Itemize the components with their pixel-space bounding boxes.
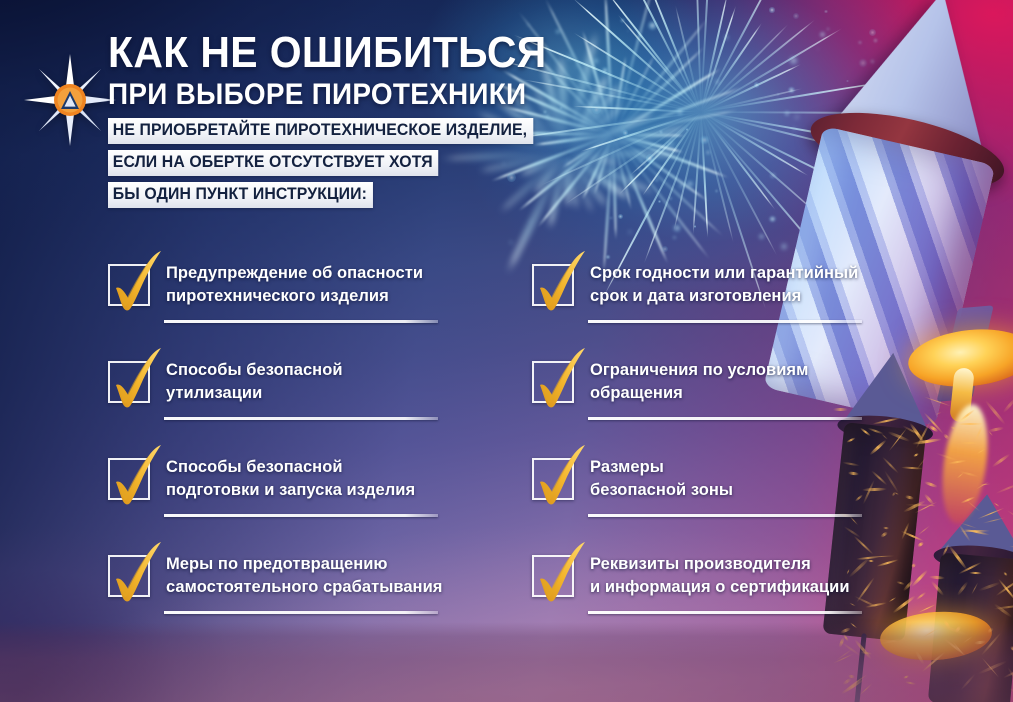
subheadline-line: ЕСЛИ НА ОБЕРТКЕ ОТСУТСТВУЕТ ХОТЯ: [108, 150, 438, 176]
checklist-item-underline: [588, 320, 862, 323]
emercom-star-icon: [22, 52, 118, 148]
page-title: КАК НЕ ОШИБИТЬСЯ ПРИ ВЫБОРЕ ПИРОТЕХНИКИ: [108, 30, 628, 111]
headline-line-1: КАК НЕ ОШИБИТЬСЯ: [108, 30, 592, 76]
checklist-item-text: Предупреждение об опасностипиротехническ…: [166, 256, 423, 307]
checkbox-checked-icon[interactable]: [108, 264, 154, 310]
checklist-item-underline: [588, 611, 862, 614]
checklist-item-line-2: утилизации: [166, 382, 343, 405]
checklist-item-line-1: Ограничения по условиям: [590, 361, 808, 379]
subheadline: НЕ ПРИОБРЕТАЙТЕ ПИРОТЕХНИЧЕСКОЕ ИЗДЕЛИЕ,…: [108, 118, 551, 214]
checklist-item-underline: [164, 417, 438, 420]
checklist-item-line-1: Размеры: [590, 458, 664, 476]
checklist-item: Размерыбезопасной зоны: [532, 446, 914, 543]
checkbox-checked-icon[interactable]: [532, 458, 578, 504]
checkbox-checked-icon[interactable]: [532, 555, 578, 601]
checklist-item: Срок годности или гарантийныйсрок и дата…: [532, 252, 914, 349]
checklist: Предупреждение об опасностипиротехническ…: [108, 252, 914, 640]
checklist-item-line-1: Способы безопасной: [166, 361, 343, 379]
checklist-item-line-2: и информация о сертификации: [590, 576, 850, 599]
checklist-item-underline: [164, 611, 438, 614]
checklist-item-text: Меры по предотвращениюсамостоятельного с…: [166, 547, 442, 598]
checklist-item-text: Способы безопаснойутилизации: [166, 353, 343, 404]
checklist-item-text: Размерыбезопасной зоны: [590, 450, 733, 501]
checklist-item: Способы безопаснойподготовки и запуска и…: [108, 446, 532, 543]
checklist-item: Меры по предотвращениюсамостоятельного с…: [108, 543, 532, 640]
subheadline-line: БЫ ОДИН ПУНКТ ИНСТРУКЦИИ:: [108, 182, 373, 208]
infographic-poster: КАК НЕ ОШИБИТЬСЯ ПРИ ВЫБОРЕ ПИРОТЕХНИКИ …: [0, 0, 1013, 702]
checklist-item-underline: [164, 320, 438, 323]
checkbox-checked-icon[interactable]: [532, 264, 578, 310]
checklist-item-text: Срок годности или гарантийныйсрок и дата…: [590, 256, 858, 307]
checkbox-checked-icon[interactable]: [108, 458, 154, 504]
checkbox-checked-icon[interactable]: [108, 555, 154, 601]
checklist-item-underline: [164, 514, 438, 517]
checklist-item-underline: [588, 417, 862, 420]
checklist-item: Способы безопаснойутилизации: [108, 349, 532, 446]
checklist-item-line-1: Меры по предотвращению: [166, 555, 388, 573]
checklist-item-text: Реквизиты производителяи информация о се…: [590, 547, 850, 598]
checklist-item: Предупреждение об опасностипиротехническ…: [108, 252, 532, 349]
checklist-item-line-2: срок и дата изготовления: [590, 285, 858, 308]
checklist-item-line-1: Реквизиты производителя: [590, 555, 811, 573]
checklist-item-text: Способы безопаснойподготовки и запуска и…: [166, 450, 415, 501]
poster-content: КАК НЕ ОШИБИТЬСЯ ПРИ ВЫБОРЕ ПИРОТЕХНИКИ …: [0, 0, 1013, 702]
checklist-item-underline: [588, 514, 862, 517]
subheadline-line: НЕ ПРИОБРЕТАЙТЕ ПИРОТЕХНИЧЕСКОЕ ИЗДЕЛИЕ,: [108, 118, 533, 144]
checklist-item: Реквизиты производителяи информация о се…: [532, 543, 914, 640]
checklist-item-line-1: Способы безопасной: [166, 458, 343, 476]
checklist-item-line-1: Срок годности или гарантийный: [590, 264, 858, 282]
checklist-item-line-2: безопасной зоны: [590, 479, 733, 502]
checklist-item: Ограничения по условиямобращения: [532, 349, 914, 446]
checklist-item-line-2: обращения: [590, 382, 808, 405]
checklist-item-line-1: Предупреждение об опасности: [166, 264, 423, 282]
checklist-item-line-2: самостоятельного срабатывания: [166, 576, 442, 599]
checklist-item-text: Ограничения по условиямобращения: [590, 353, 808, 404]
headline-line-2: ПРИ ВЫБОРЕ ПИРОТЕХНИКИ: [108, 79, 592, 111]
checkbox-checked-icon[interactable]: [108, 361, 154, 407]
checklist-item-line-2: пиротехнического изделия: [166, 285, 423, 308]
checklist-item-line-2: подготовки и запуска изделия: [166, 479, 415, 502]
checkbox-checked-icon[interactable]: [532, 361, 578, 407]
